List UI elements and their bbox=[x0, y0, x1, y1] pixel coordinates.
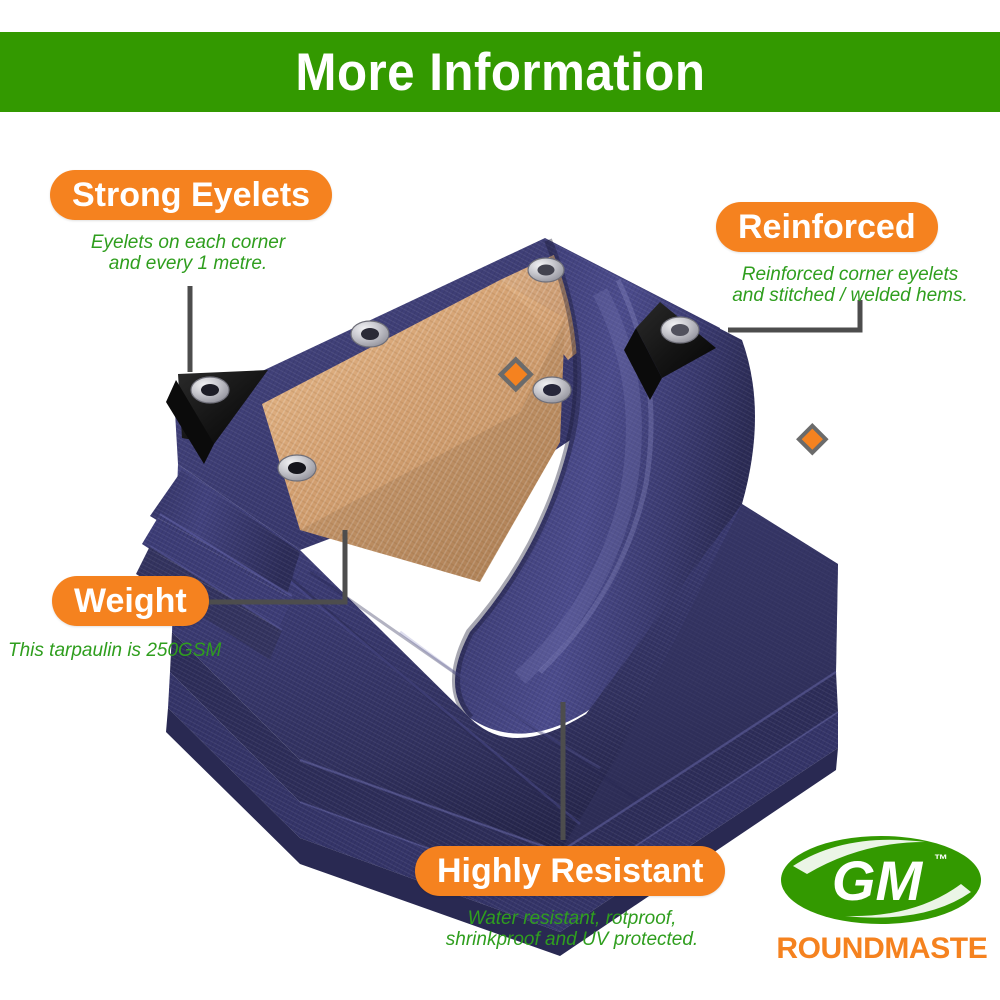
callout-desc-reinforced: Reinforced corner eyelets and stitched /… bbox=[700, 264, 1000, 307]
logo-wordmark: GROUNDMASTER bbox=[775, 932, 987, 965]
header-banner: More Information bbox=[0, 32, 1000, 112]
callout-desc-weight: This tarpaulin is 250GSM bbox=[8, 640, 288, 661]
eyelet bbox=[533, 377, 571, 403]
eyelet bbox=[661, 317, 699, 343]
callout-desc-highly-resistant: Water resistant, rotproof, shrinkproof a… bbox=[412, 908, 732, 951]
callout-pill-highly-resistant[interactable]: Highly Resistant bbox=[415, 846, 725, 896]
callout-desc-strong-eyelets: Eyelets on each corner and every 1 metre… bbox=[38, 232, 338, 275]
callout-pill-weight[interactable]: Weight bbox=[52, 576, 209, 626]
logo-trademark-icon: ™ bbox=[934, 851, 948, 867]
eyelet bbox=[351, 321, 389, 347]
callout-pill-reinforced[interactable]: Reinforced bbox=[716, 202, 938, 252]
groundmaster-logo: GM ™ GROUNDMASTER bbox=[775, 832, 987, 972]
page-title: More Information bbox=[295, 42, 705, 103]
logo-monogram: GM bbox=[832, 849, 924, 912]
eyelet bbox=[528, 258, 564, 282]
eyelet bbox=[191, 377, 229, 403]
eyelet bbox=[278, 455, 316, 481]
callout-pill-strong-eyelets[interactable]: Strong Eyelets bbox=[50, 170, 332, 220]
